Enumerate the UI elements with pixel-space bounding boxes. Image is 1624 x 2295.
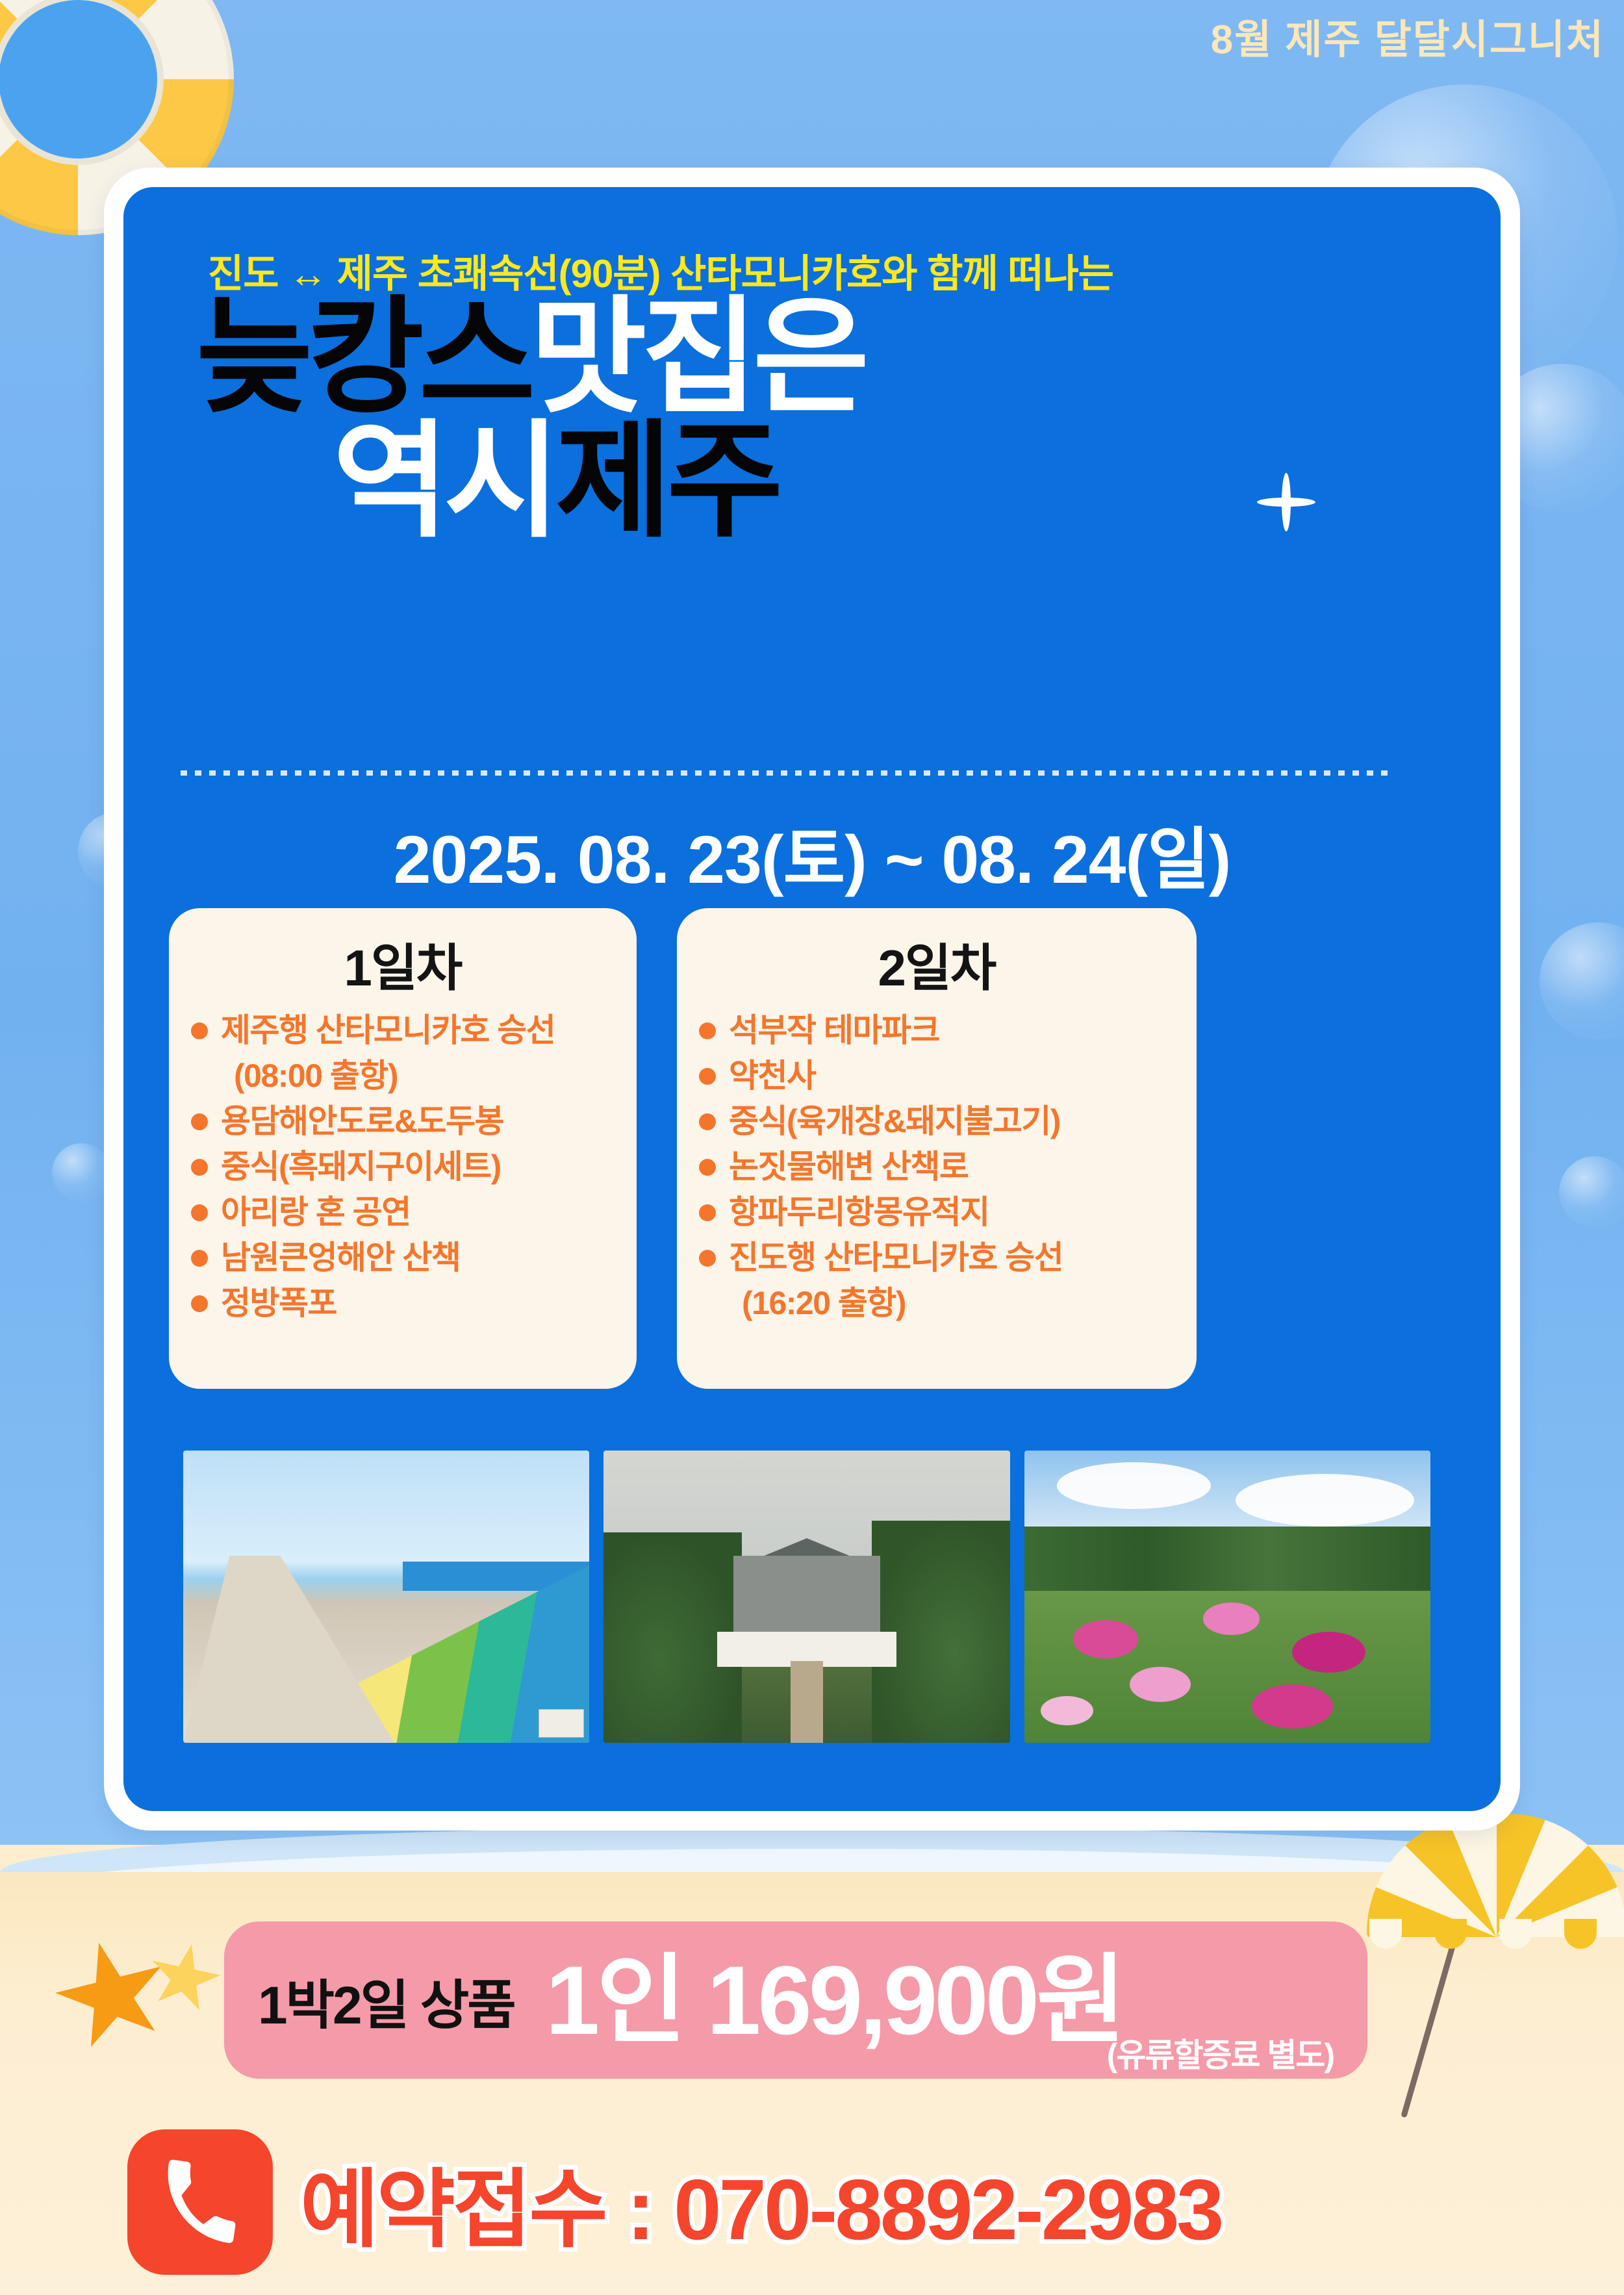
dotted-divider [181, 770, 1395, 776]
bullet-dot-icon [191, 1022, 208, 1039]
photo3-flower-1 [1073, 1620, 1138, 1658]
umbrella-scallop-3 [1499, 1919, 1532, 1949]
list-item: 약천사 [699, 1056, 1174, 1096]
bullet-dot-icon [699, 1068, 716, 1085]
price-note: (유류할증료 별도) [1107, 2029, 1334, 2076]
bullet-dot-icon [699, 1159, 716, 1176]
card-title-day2: 2일차 [699, 928, 1174, 1000]
bullet-dot-icon [191, 1295, 208, 1312]
itinerary-text: 항파두리항몽유적지 [729, 1193, 989, 1232]
itinerary-cards: 1일차 제주행 산타모니카호 승선 (08:00 출항) 용담해안도로&도두봉 … [169, 908, 1442, 1389]
itinerary-card-day1: 1일차 제주행 산타모니카호 승선 (08:00 출항) 용담해안도로&도두봉 … [169, 908, 637, 1389]
itinerary-text: 진도행 산타모니카호 승선 [729, 1238, 1063, 1278]
photo3-flower-5 [1252, 1684, 1333, 1729]
itinerary-text: 제주행 산타모니카호 승선 [221, 1011, 555, 1050]
bullet-dot-icon [699, 1250, 716, 1267]
headline-neutkangseu: 늦캉스 [196, 286, 530, 428]
list-item: 중식(흑돼지구이세트) [191, 1147, 615, 1187]
photo1-watermark [539, 1709, 584, 1738]
bullet-dot-icon [191, 1159, 208, 1176]
itinerary-list-day2: 석부작 테마파크 약천사 중식(육개장&돼지불고기) 논짓물해변 산책로 항파두… [699, 1011, 1174, 1323]
photo3-cloud-2 [1236, 1474, 1414, 1527]
swim-ring-hole [0, 0, 157, 158]
headline-line-1: 늦캉스맛집은 [196, 298, 1469, 418]
date-range: 2025. 08. 23(토) ~ 08. 24(일) [123, 804, 1501, 902]
itinerary-text: 석부작 테마파크 [729, 1011, 939, 1050]
header-caption: 8월 제주 달달시그니처 [1211, 6, 1605, 65]
itinerary-card-day2: 2일차 석부작 테마파크 약천사 중식(육개장&돼지불고기) 논짓물해변 산책로… [677, 908, 1197, 1389]
list-item: 아리랑 혼 공연 [191, 1193, 615, 1232]
photo2-building [733, 1556, 880, 1643]
photo3-flower-6 [1041, 1696, 1093, 1725]
reservation-row[interactable]: 예약접수 : 070-8892-2983 [127, 2129, 1222, 2275]
list-item: (16:20 출항) [729, 1284, 1174, 1323]
card-title-day1: 1일차 [191, 928, 615, 1000]
price-banner: 1박2일 상품 1인 169,900원 (유류할증료 별도) [224, 1921, 1367, 2079]
main-panel-frame: 진도 ↔ 제주 초쾌속선(90분) 산타모니카호와 함께 떠나는 늦캉스맛집은 … [104, 168, 1520, 1831]
bullet-dot-icon [699, 1022, 716, 1039]
itinerary-text: 중식(육개장&돼지불고기) [729, 1102, 1060, 1141]
itinerary-text: 아리랑 혼 공연 [221, 1193, 411, 1232]
itinerary-text: 정방폭포 [221, 1284, 336, 1323]
sparkle-icon [1257, 473, 1315, 531]
headline-yeoksi: 역시 [333, 411, 555, 552]
photo-strip [183, 1451, 1430, 1743]
list-item: 항파두리항몽유적지 [699, 1193, 1174, 1232]
photo1-stone-path [183, 1556, 394, 1743]
itinerary-text: 논짓물해변 산책로 [729, 1147, 968, 1187]
list-item: 제주행 산타모니카호 승선 [191, 1011, 615, 1050]
phone-icon[interactable] [127, 2129, 273, 2275]
itinerary-text: 중식(흑돼지구이세트) [221, 1147, 501, 1187]
itinerary-text: (16:20 출항) [742, 1284, 906, 1323]
umbrella-scallop-2 [1434, 1919, 1467, 1949]
reservation-phone[interactable]: 예약접수 : 070-8892-2983 [300, 2140, 1222, 2264]
list-item: 남원큰엉해안 산책 [191, 1238, 615, 1278]
bullet-dot-icon [699, 1204, 716, 1221]
photo2-walkway [791, 1661, 823, 1743]
list-item: 논짓물해변 산책로 [699, 1147, 1174, 1187]
main-panel: 진도 ↔ 제주 초쾌속선(90분) 산타모니카호와 함께 떠나는 늦캉스맛집은 … [123, 187, 1501, 1811]
list-item: 석부작 테마파크 [699, 1011, 1174, 1050]
list-item: 중식(육개장&돼지불고기) [699, 1102, 1174, 1141]
itinerary-text: 약천사 [729, 1056, 816, 1096]
photo-rainbow-walkway [183, 1451, 589, 1743]
umbrella-scallop-1 [1369, 1919, 1402, 1949]
list-item: 용담해안도로&도두봉 [191, 1102, 615, 1141]
photo-cosmos-field [1024, 1451, 1430, 1743]
itinerary-text: (08:00 출항) [234, 1056, 398, 1096]
bullet-dot-icon [191, 1204, 208, 1221]
photo3-flower-3 [1292, 1632, 1365, 1673]
headline-jeju: 제주 [555, 411, 778, 552]
photo3-flower-4 [1130, 1667, 1191, 1702]
price-label: 1박2일 상품 [258, 1962, 514, 2039]
itinerary-list-day1: 제주행 산타모니카호 승선 (08:00 출항) 용담해안도로&도두봉 중식(흑… [191, 1011, 615, 1323]
beach-umbrella-icon [1367, 1801, 1624, 2138]
list-item: 진도행 산타모니카호 승선 [699, 1238, 1174, 1278]
list-item: (08:00 출항) [221, 1056, 615, 1096]
photo3-flower-2 [1203, 1603, 1260, 1635]
photo3-treeline [1024, 1527, 1430, 1591]
headline-matjibeun: 맛집은 [530, 286, 864, 428]
bullet-dot-icon [191, 1250, 208, 1267]
itinerary-text: 용담해안도로&도두봉 [221, 1102, 503, 1141]
photo-temple [603, 1451, 1009, 1743]
list-item: 정방폭포 [191, 1284, 615, 1323]
price-amount: 1인 169,900원 [546, 1951, 1123, 2049]
itinerary-text: 남원큰엉해안 산책 [221, 1238, 460, 1278]
bullet-dot-icon [699, 1113, 716, 1130]
umbrella-scallop-4 [1564, 1919, 1597, 1949]
bullet-dot-icon [191, 1113, 208, 1130]
photo3-cloud-1 [1057, 1462, 1212, 1509]
phone-handset-glyph [151, 2153, 248, 2250]
